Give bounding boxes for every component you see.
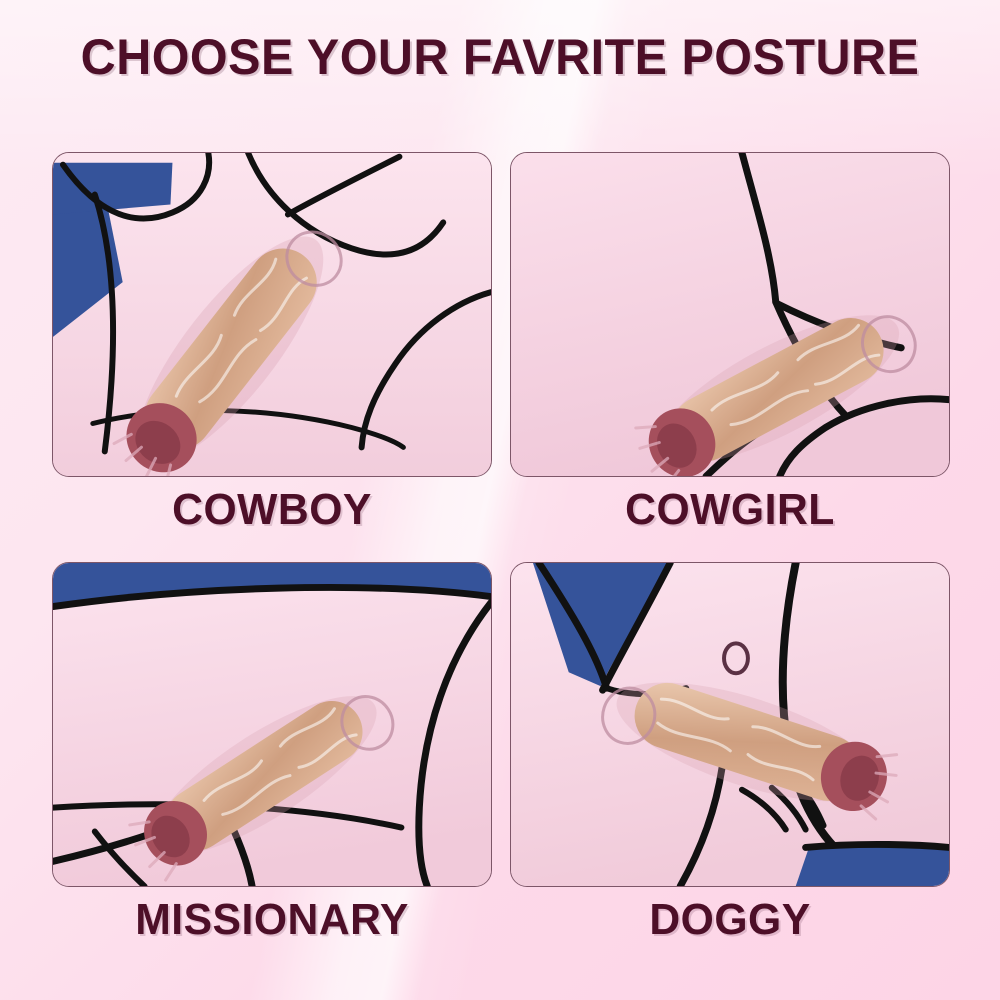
posture-illustration-missionary-icon	[53, 563, 491, 886]
posture-illustration-cowboy-icon	[53, 153, 491, 476]
posture-image-cowboy[interactable]	[52, 152, 492, 477]
posture-panel-grid: COWBOY	[52, 152, 950, 884]
posture-image-cowgirl[interactable]	[510, 152, 950, 477]
posture-caption-cowboy: COWBOY	[59, 485, 486, 535]
posture-illustration-cowgirl-icon	[511, 153, 949, 476]
posture-card-missionary[interactable]: MISSIONARY	[52, 562, 492, 887]
posture-card-cowboy[interactable]: COWBOY	[52, 152, 492, 477]
page-title: CHOOSE YOUR FAVRITE POSTURE	[15, 28, 985, 86]
posture-caption-doggy: DOGGY	[517, 895, 944, 945]
posture-image-doggy[interactable]	[510, 562, 950, 887]
posture-image-missionary[interactable]	[52, 562, 492, 887]
posture-card-cowgirl[interactable]: COWGIRL	[510, 152, 950, 477]
posture-caption-missionary: MISSIONARY	[59, 895, 486, 945]
posture-illustration-doggy-icon	[511, 563, 949, 886]
posture-caption-cowgirl: COWGIRL	[517, 485, 944, 535]
posture-card-doggy[interactable]: DOGGY	[510, 562, 950, 887]
